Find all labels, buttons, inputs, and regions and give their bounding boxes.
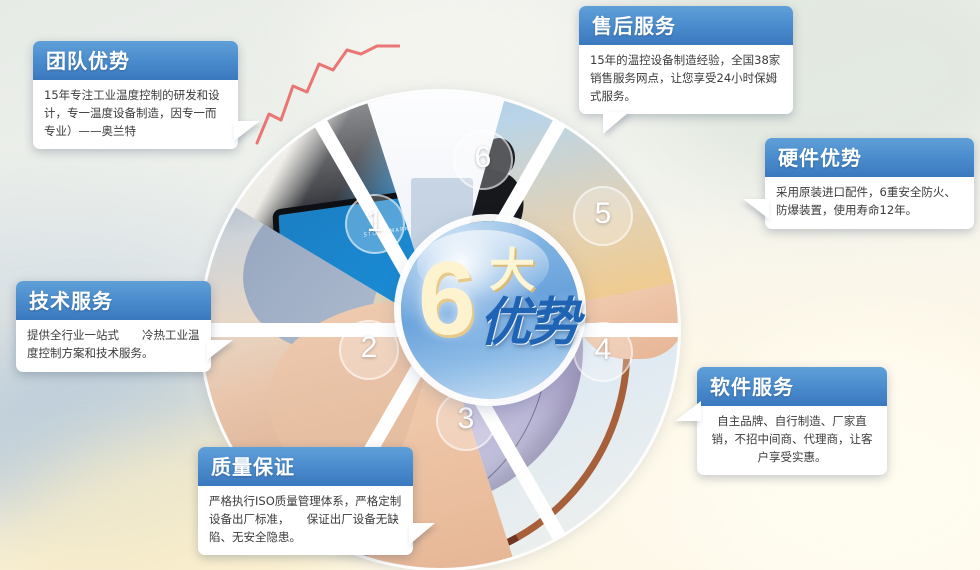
callout-header: 软件服务 <box>697 367 887 406</box>
marker-label: 2 <box>361 331 378 364</box>
callout-tail <box>409 523 435 545</box>
callout-tail <box>603 112 629 134</box>
callout-body: 15年的温控设备制造经验，全国38家销售服务网点，让您享受24小时保姆式服务。 <box>579 45 793 114</box>
marker-4[interactable]: 4 <box>573 322 633 382</box>
center-badge[interactable]: 6 大 优势 <box>401 221 579 399</box>
callout-title: 售后服务 <box>592 14 676 38</box>
callout-tail <box>207 340 233 360</box>
callout-header: 质量保证 <box>198 447 413 486</box>
callout-software-service[interactable]: 软件服务 自主品牌、自行制造、厂家直销，不招中间商、代理商，让客户享受实惠。 <box>697 367 887 475</box>
callout-body: 采用原装进口配件，6重安全防火、防爆装置，使用寿命12年。 <box>765 177 974 229</box>
marker-6[interactable]: 6 <box>453 130 513 190</box>
callout-after-sales-service[interactable]: 售后服务 15年的温控设备制造经验，全国38家销售服务网点，让您享受24小时保姆… <box>579 6 793 114</box>
callout-quality-assurance[interactable]: 质量保证 严格执行ISO质量管理体系，严格定制设备出厂标准， 保证出厂设备无缺陷… <box>198 447 413 555</box>
badge-script-text: 优势 <box>479 295 577 351</box>
callout-title: 硬件优势 <box>778 146 862 170</box>
callout-title: 软件服务 <box>710 375 794 399</box>
callout-title: 团队优势 <box>46 49 130 73</box>
marker-label: 1 <box>367 205 384 238</box>
callout-header: 团队优势 <box>33 41 238 80</box>
callout-header: 售后服务 <box>579 6 793 45</box>
callout-team-advantage[interactable]: 团队优势 15年专注工业温度控制的研发和设计，专一温度设备制造，因专一而专业）—… <box>33 41 238 149</box>
callout-tail <box>234 121 260 141</box>
callout-title: 技术服务 <box>29 289 113 313</box>
callout-technical-service[interactable]: 技术服务 提供全行业一站式 冷热工业温度控制方案和技术服务。 <box>16 281 211 372</box>
callout-body: 严格执行ISO质量管理体系，严格定制设备出厂标准， 保证出厂设备无缺陷、无安全隐… <box>198 486 413 555</box>
callout-hardware-advantage[interactable]: 硬件优势 采用原装进口配件，6重安全防火、防爆装置，使用寿命12年。 <box>765 138 974 229</box>
marker-1[interactable]: 1 <box>345 194 405 254</box>
callout-body: 15年专注工业温度控制的研发和设计，专一温度设备制造，因专一而专业）——奥兰特 <box>33 80 238 149</box>
marker-5[interactable]: 5 <box>573 186 633 246</box>
marker-2[interactable]: 2 <box>339 320 399 380</box>
callout-header: 硬件优势 <box>765 138 974 177</box>
marker-label: 5 <box>595 197 612 230</box>
callout-title: 质量保证 <box>211 455 295 479</box>
marker-label: 3 <box>458 402 475 435</box>
callout-body: 提供全行业一站式 冷热工业温度控制方案和技术服务。 <box>16 320 211 372</box>
infographic-canvas: STOCK MARKET DATA INTC <box>0 0 980 570</box>
callout-body: 自主品牌、自行制造、厂家直销，不招中间商、代理商，让客户享受实惠。 <box>697 406 887 475</box>
callout-tail <box>743 199 769 219</box>
callout-header: 技术服务 <box>16 281 211 320</box>
marker-label: 6 <box>475 141 492 174</box>
marker-label: 4 <box>595 333 612 366</box>
badge-big-char: 大 <box>489 247 535 293</box>
badge-number: 6 <box>418 247 476 351</box>
marker-3[interactable]: 3 <box>436 391 496 451</box>
callout-tail <box>675 401 701 421</box>
